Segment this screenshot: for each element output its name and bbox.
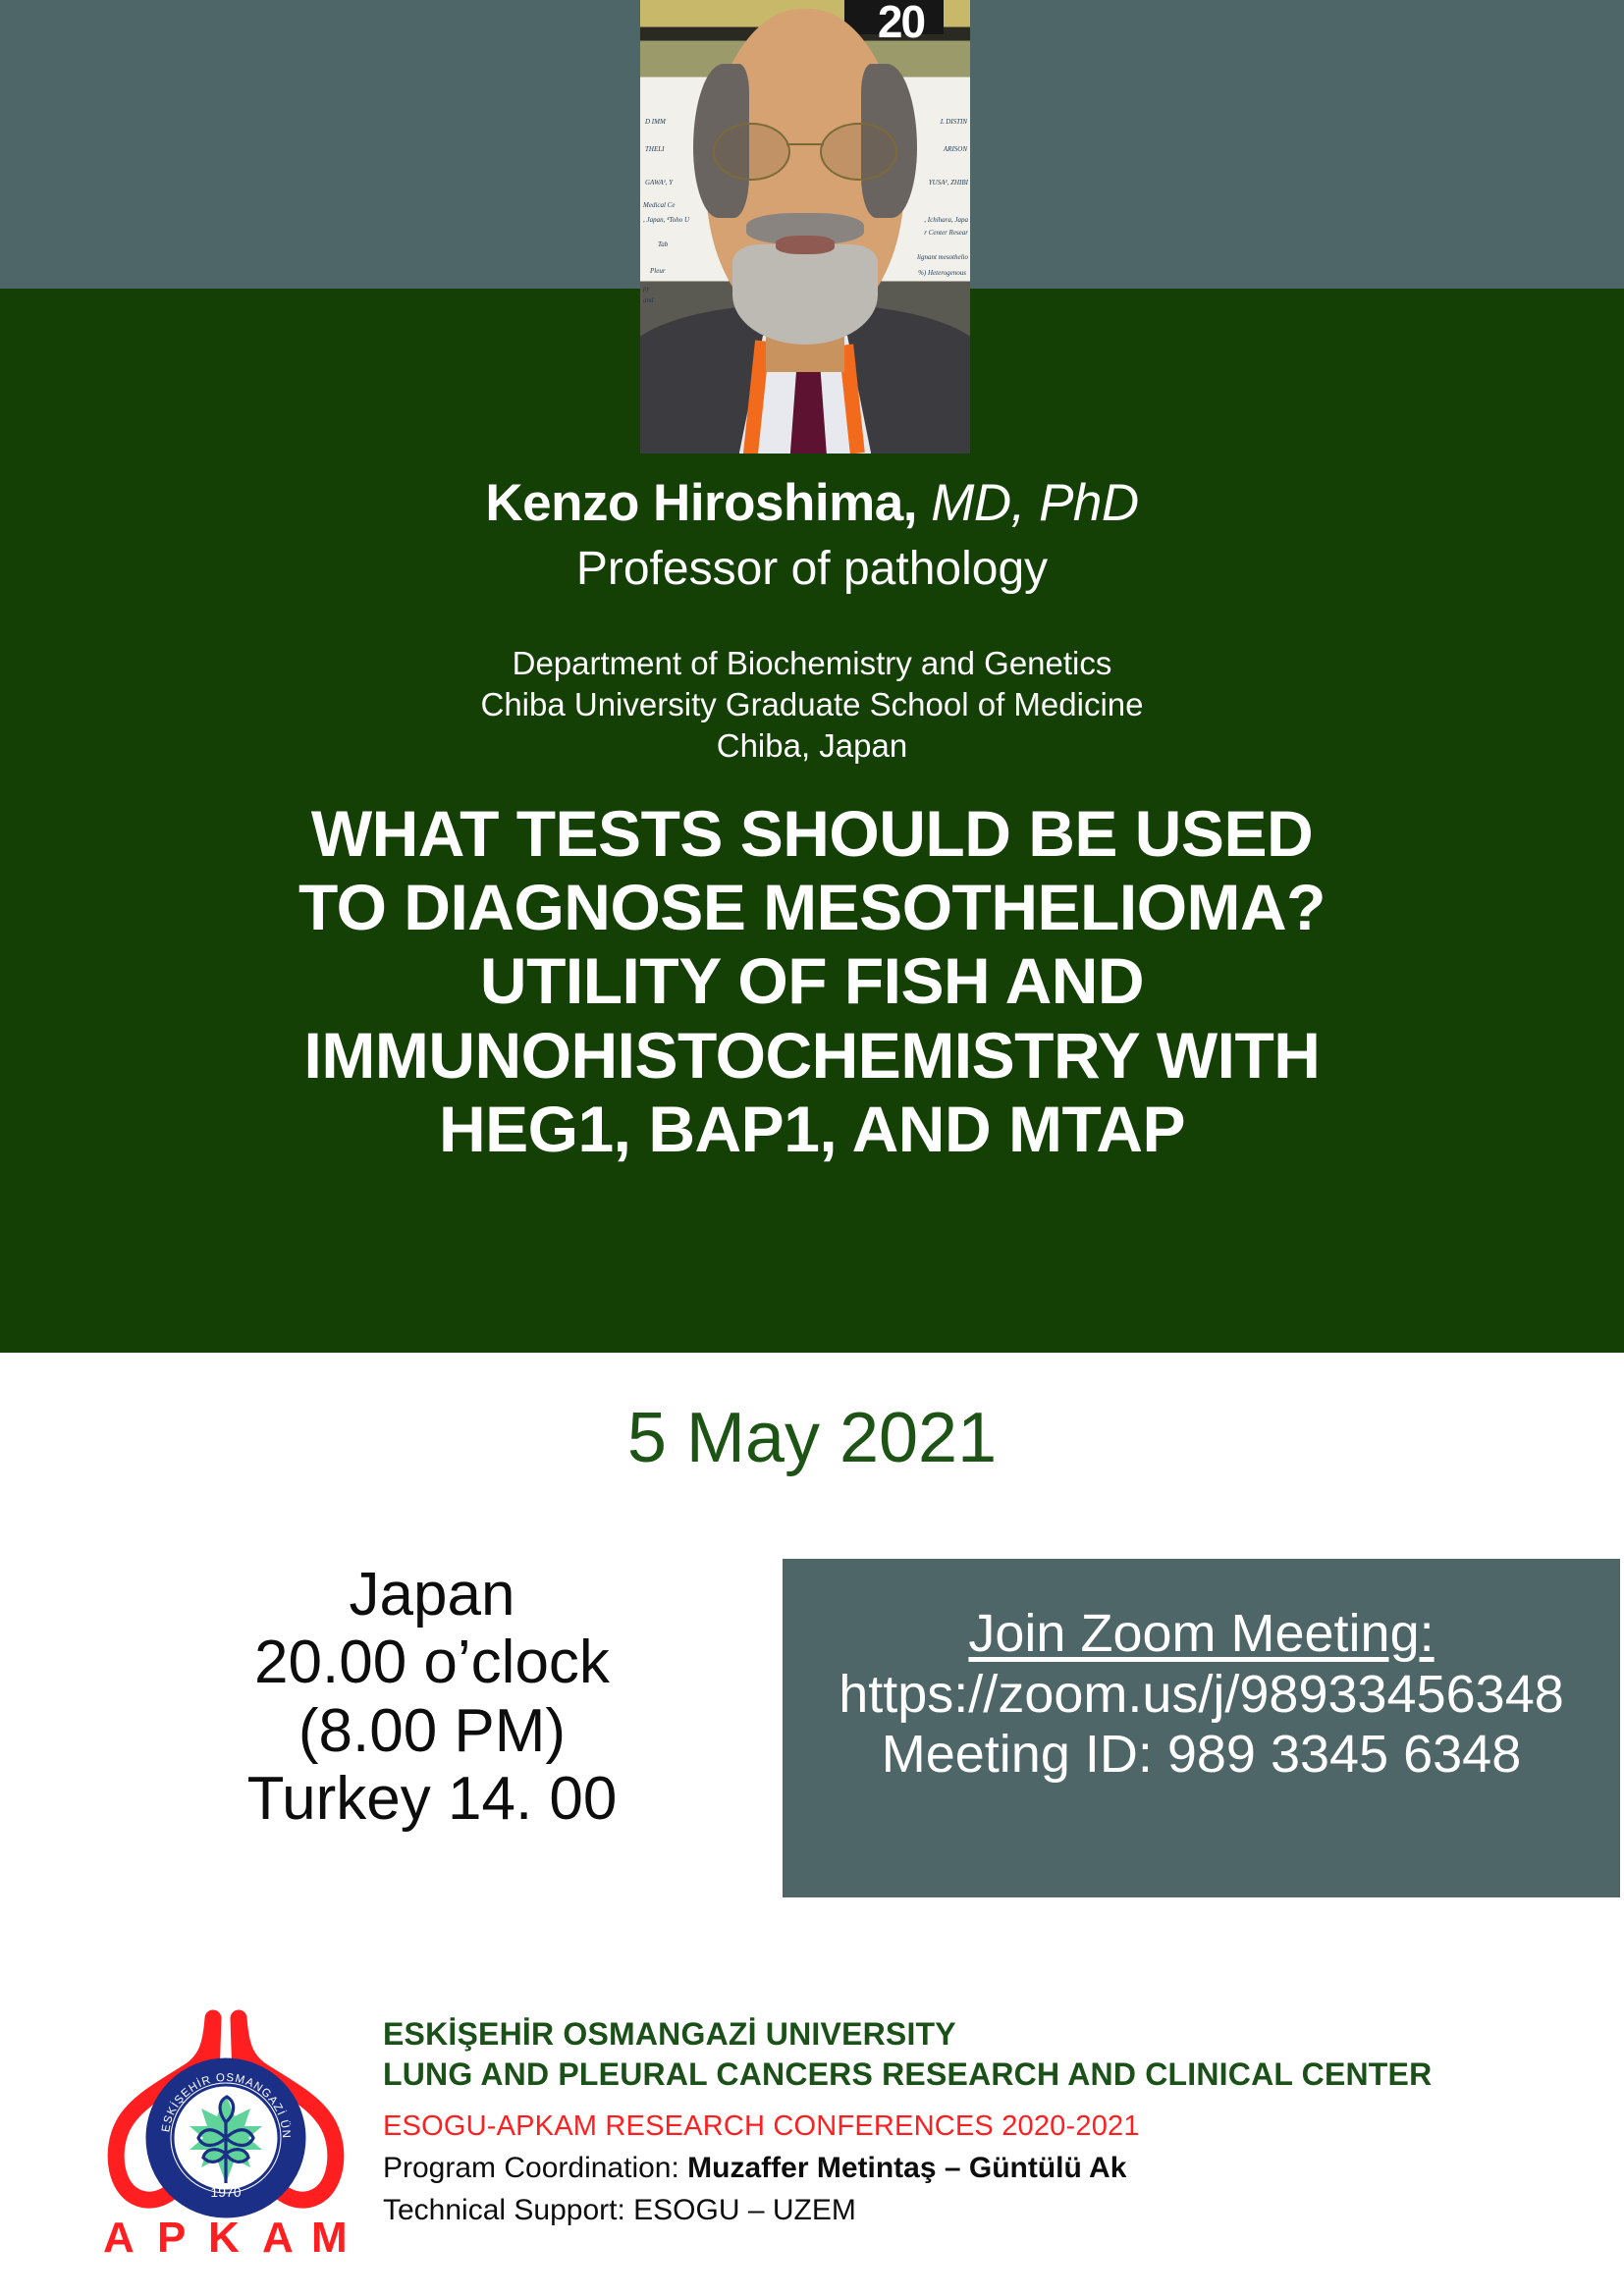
poster-text-line: YUSA², ZHIBI — [929, 179, 968, 187]
poster-text-line: lignant mesothelio — [917, 253, 968, 261]
zoom-meeting-box: Join Zoom Meeting: https://zoom.us/j/989… — [783, 1559, 1620, 1897]
lecture-title: WHAT TESTS SHOULD BE USED TO DIAGNOSE ME… — [0, 797, 1624, 1166]
poster-text-line: D IMM — [645, 118, 666, 126]
event-date: 5 May 2021 — [0, 1398, 1624, 1478]
footer-org-line2: LUNG AND PLEURAL CANCERS RESEARCH AND CL… — [383, 2055, 1591, 2095]
zoom-meeting-id: Meeting ID: 989 3345 6348 — [783, 1725, 1620, 1786]
speaker-affiliation: Department of Biochemistry and Genetics … — [0, 643, 1624, 768]
beard-shape — [732, 244, 878, 345]
footer-org-line1: ESKİŞEHİR OSMANGAZİ UNIVERSITY — [383, 2014, 1591, 2055]
glasses-icon — [713, 123, 897, 177]
event-time-line: Japan — [108, 1561, 756, 1629]
seal-year: 1970 — [210, 2184, 241, 2200]
lecture-title-line: TO DIAGNOSE MESOTHELIOMA? — [0, 871, 1624, 944]
apkam-letter: K — [208, 2214, 240, 2261]
affiliation-line: Chiba, Japan — [0, 725, 1624, 767]
event-time-line: 20.00 o’clock — [108, 1629, 756, 1696]
event-time-line: Turkey 14. 00 — [108, 1765, 756, 1833]
poster-text-line: and — [643, 296, 654, 304]
zoom-join-heading[interactable]: Join Zoom Meeting: — [783, 1604, 1620, 1665]
lecture-title-line: IMMUNOHISTOCHEMISTRY WITH — [0, 1019, 1624, 1093]
glasses-lens-right — [820, 123, 897, 181]
apkam-letter: M — [311, 2214, 348, 2261]
poster-text-line: py — [643, 285, 650, 293]
footer-conference-series: ESOGU-APKAM RESEARCH CONFERENCES 2020-20… — [383, 2110, 1591, 2143]
apkam-letters: A P K A M — [103, 2214, 348, 2261]
poster-text-line: Tab — [658, 240, 668, 248]
footer: ESKİŞEHİR OSMANGAZİ ÜNİVERSİTESİ 1970 A … — [0, 1993, 1624, 2296]
poster-text-line: , Ichihara, Japa — [924, 216, 968, 224]
speaker-photo: 20 D IMM THELI GAWA¹, Y Medical Ce , Jap… — [640, 0, 970, 454]
poster-text-line: L DISTIN — [941, 118, 967, 126]
speaker-name: Kenzo Hiroshima, MD, PhD — [0, 473, 1624, 533]
lecture-title-line: WHAT TESTS SHOULD BE USED — [0, 797, 1624, 871]
lecture-title-line: UTILITY OF FISH AND — [0, 944, 1624, 1018]
footer-program-coordination: Program Coordination: Muzaffer Metintaş … — [383, 2152, 1591, 2185]
glasses-bridge — [786, 143, 824, 146]
coordination-label: Program Coordination: — [383, 2152, 687, 2184]
speaker-degrees: MD, PhD — [917, 474, 1139, 532]
speaker-name-text: Kenzo Hiroshima, — [485, 474, 917, 532]
event-time-line: (8.00 PM) — [108, 1697, 756, 1765]
apkam-letter: P — [157, 2214, 186, 2261]
apkam-letter: A — [262, 2214, 294, 2261]
event-time-block: Japan 20.00 o’clock (8.00 PM) Turkey 14.… — [108, 1561, 756, 1834]
footer-technical-support: Technical Support: ESOGU – UZEM — [383, 2194, 1591, 2227]
affiliation-line: Department of Biochemistry and Genetics — [0, 643, 1624, 684]
speaker-role: Professor of pathology — [0, 542, 1624, 596]
poster-text-line: Medical Ce — [643, 201, 675, 209]
poster-text-line: , Japan, ⁴Toho U — [643, 216, 689, 224]
poster-text-line: ARISON — [944, 145, 967, 153]
poster-text-line: THELI — [645, 145, 664, 153]
glasses-lens-left — [713, 123, 790, 181]
apkam-logo-svg: ESKİŞEHİR OSMANGAZİ ÜNİVERSİTESİ 1970 A … — [93, 2001, 358, 2261]
apkam-logo: ESKİŞEHİR OSMANGAZİ ÜNİVERSİTESİ 1970 A … — [93, 2001, 358, 2261]
poster-text-line: r Center Resear — [924, 229, 968, 237]
poster-text-line: GAWA¹, Y — [645, 179, 673, 187]
zoom-meeting-url[interactable]: https://zoom.us/j/98933456348 — [783, 1665, 1620, 1726]
mouth-shape — [776, 236, 835, 253]
footer-text-block: ESKİŞEHİR OSMANGAZİ UNIVERSITY LUNG AND … — [383, 2014, 1591, 2227]
coordination-names: Muzaffer Metintaş – Güntülü Ak — [687, 2152, 1126, 2184]
poster-number: 20 — [878, 0, 924, 48]
poster-text-line: %) Heterogenous — [918, 269, 966, 277]
apkam-letter: A — [103, 2214, 135, 2261]
lecture-title-line: HEG1, BAP1, AND MTAP — [0, 1093, 1624, 1166]
affiliation-line: Chiba University Graduate School of Medi… — [0, 684, 1624, 725]
poster-text-line: Pleur — [650, 267, 666, 275]
